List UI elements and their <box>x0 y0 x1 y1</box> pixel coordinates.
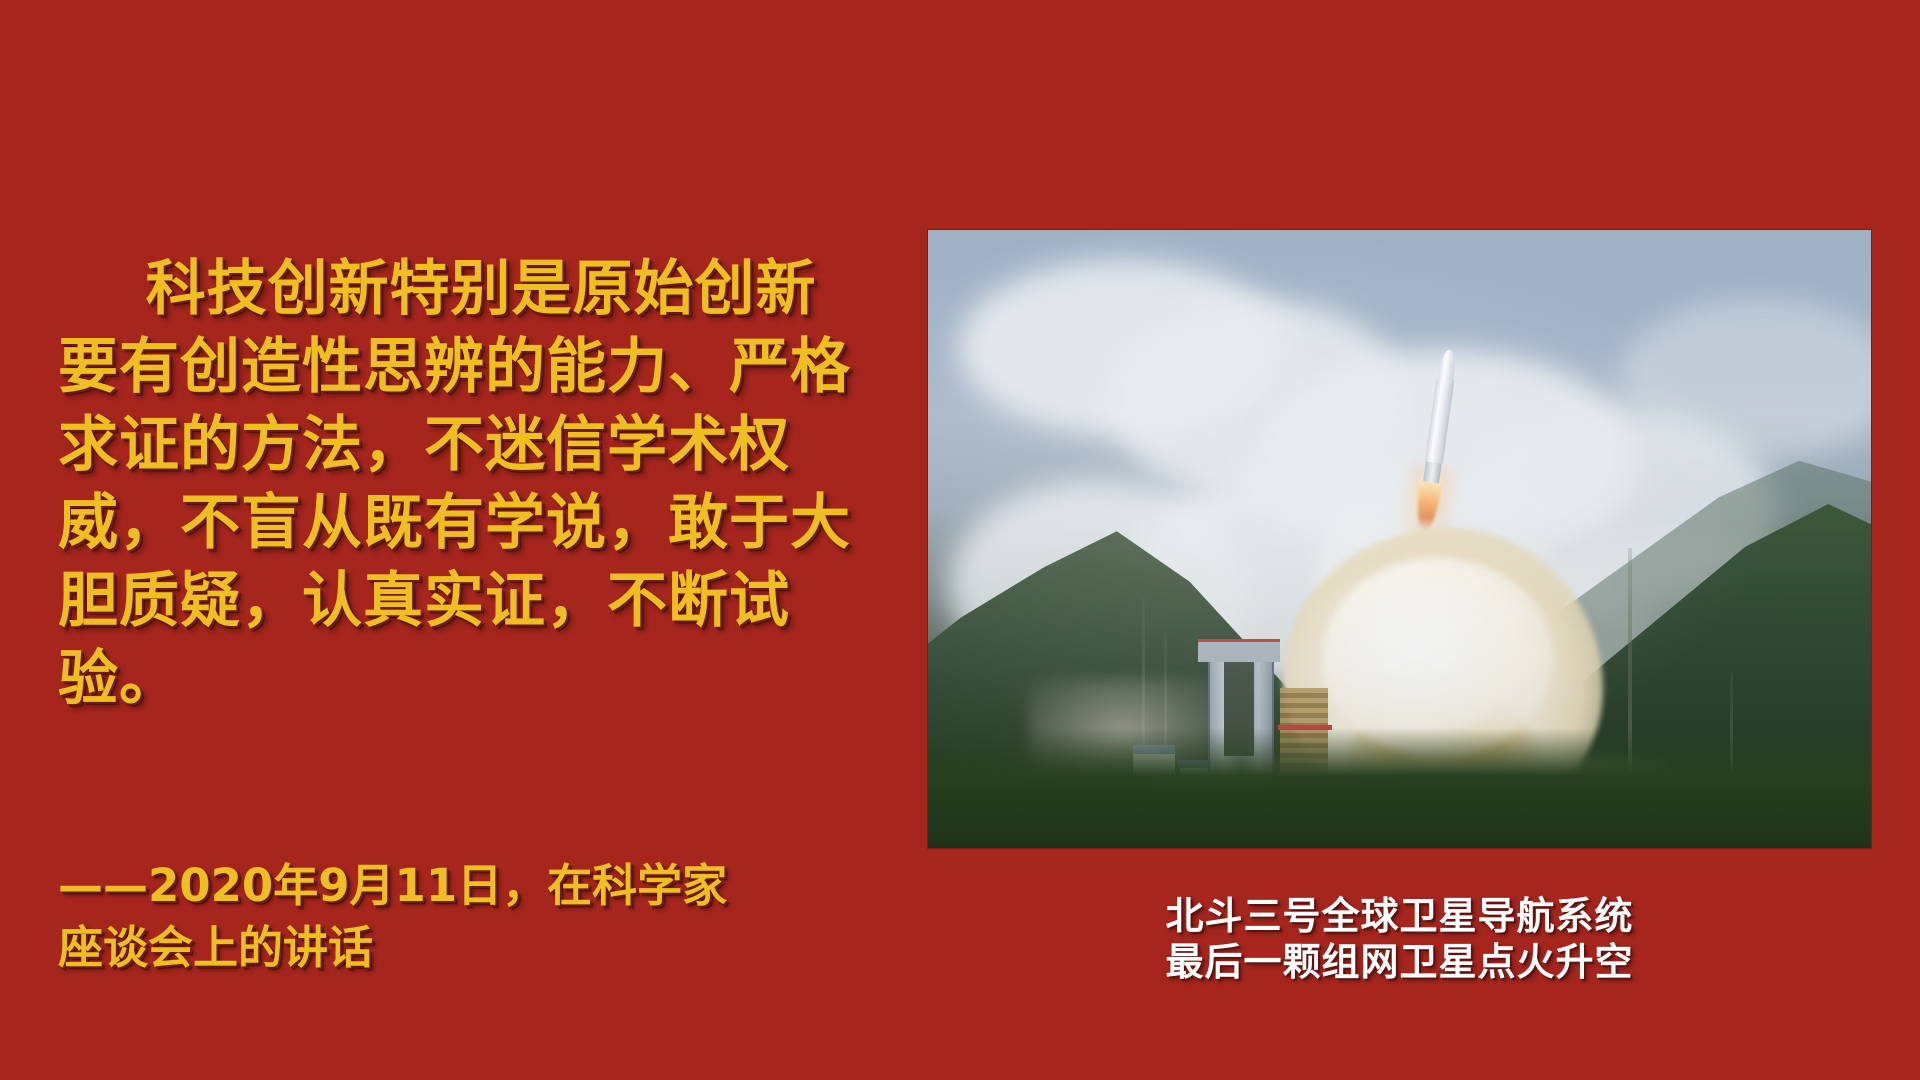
foreground-treeline <box>928 728 1871 848</box>
slide-root: 科技创新特别是原始创新要有创造性思辨的能力、严格求证的方法，不迷信学术权威，不盲… <box>0 0 1920 1080</box>
launch-tower-cap <box>1198 639 1280 662</box>
quote-block: 科技创新特别是原始创新要有创造性思辨的能力、严格求证的方法，不迷信学术权威，不盲… <box>58 250 858 718</box>
quote-attribution: ——2020年9月11日，在科学家 座谈会上的讲话 <box>58 855 818 979</box>
rocket-nose-cone <box>1437 349 1458 385</box>
launch-photo <box>928 230 1871 848</box>
launch-photo-frame <box>928 230 1871 848</box>
quote-text: 科技创新特别是原始创新要有创造性思辨的能力、严格求证的方法，不迷信学术权威，不盲… <box>58 250 858 718</box>
photo-caption: 北斗三号全球卫星导航系统 最后一颗组网卫星点火升空 <box>928 893 1871 985</box>
